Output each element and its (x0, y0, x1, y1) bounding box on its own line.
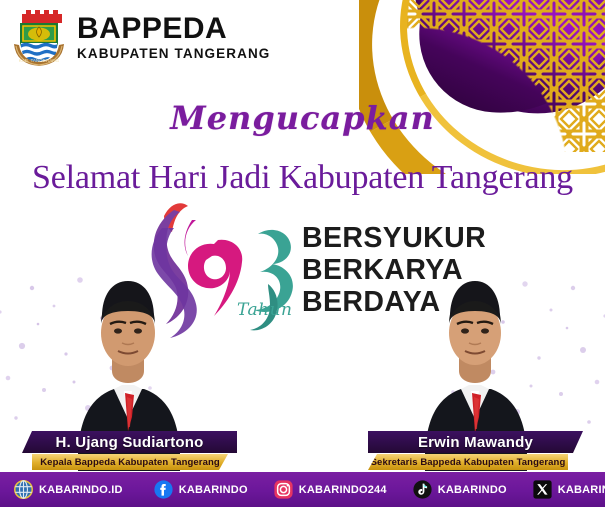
brand-text: BAPPEDA KABUPATEN TANGERANG (77, 14, 270, 61)
greeting-script-line: Mengucapkan (0, 99, 605, 137)
social-handle: KABARINDO (438, 484, 507, 496)
nameplate-official-2: Erwin Mawandy Sekretaris Bappeda Kabupat… (368, 431, 583, 470)
globe-website-icon (14, 480, 33, 499)
bappeda-tangerang-emblem-icon: KAB. TANGERANG (10, 6, 68, 68)
social-handle: KABARINDO244 (299, 484, 387, 496)
x-twitter-icon (533, 480, 552, 499)
brand-title: BAPPEDA (77, 14, 270, 44)
poster-canvas: KAB. TANGERANG BAPPEDA KABUPATEN TANGERA… (0, 0, 605, 507)
facebook-icon (154, 480, 173, 499)
tiktok-icon (413, 480, 432, 499)
svg-text:KAB. TANGERANG: KAB. TANGERANG (19, 58, 60, 63)
official-name: Erwin Mawandy (368, 431, 583, 453)
brand-subtitle: KABUPATEN TANGERANG (77, 47, 270, 61)
anniversary-unit-label: Tahun (237, 300, 293, 320)
social-footer-bar: KABARINDO.ID KABARINDO KABARINDO244 (0, 472, 605, 507)
official-role: Kepala Bappeda Kabupaten Tangerang (32, 454, 228, 470)
social-item-x[interactable]: KABARINDO244 (533, 480, 605, 499)
official-role: Sekretaris Bappeda Kabupaten Tangerang (368, 454, 568, 470)
social-handle: KABARINDO.ID (39, 484, 123, 496)
social-item-facebook[interactable]: KABARINDO (154, 480, 248, 499)
gold-corner-ornament (359, 0, 605, 174)
greeting-headline: Selamat Hari Jadi Kabupaten Tangerang (0, 159, 605, 197)
social-item-tiktok[interactable]: KABARINDO (413, 480, 507, 499)
social-item-website[interactable]: KABARINDO.ID (14, 480, 123, 499)
social-item-instagram[interactable]: KABARINDO244 (274, 480, 387, 499)
social-handle: KABARINDO244 (558, 484, 605, 496)
nameplate-official-1: H. Ujang Sudiartono Kepala Bappeda Kabup… (22, 431, 237, 470)
instagram-icon (274, 480, 293, 499)
official-name: H. Ujang Sudiartono (22, 431, 237, 453)
brand-header: KAB. TANGERANG BAPPEDA KABUPATEN TANGERA… (10, 6, 270, 68)
social-handle: KABARINDO (179, 484, 248, 496)
